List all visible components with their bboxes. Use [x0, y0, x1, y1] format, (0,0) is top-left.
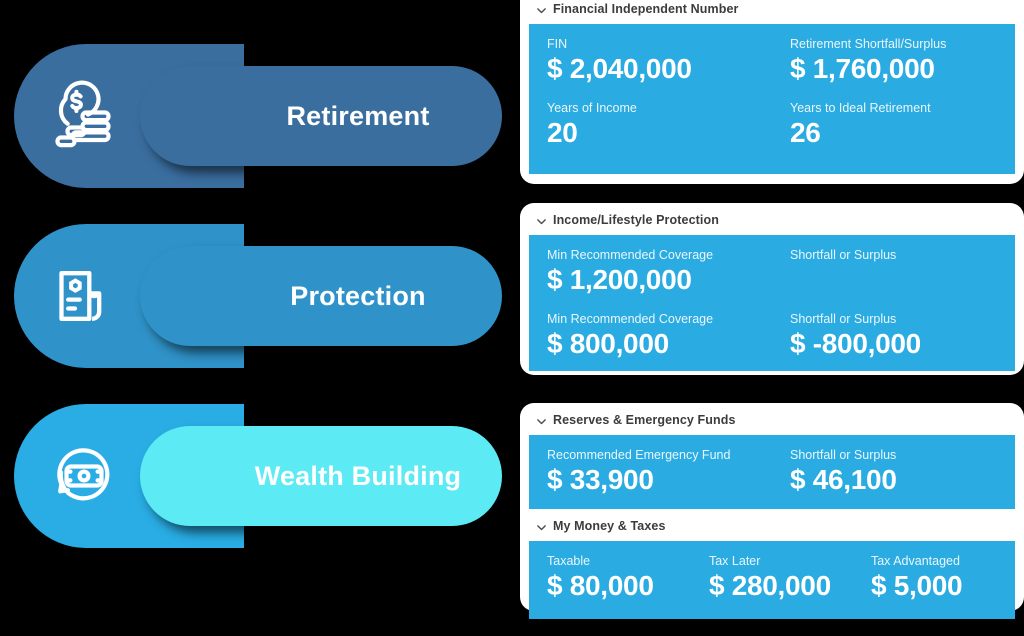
panel-header[interactable]: Income/Lifestyle Protection: [520, 203, 1024, 235]
panel-income-lifestyle-protection: Income/Lifestyle Protection Min Recommen…: [520, 203, 1024, 375]
stat-label: Min Recommended Coverage: [547, 247, 772, 263]
stat-value: $ 280,000: [709, 569, 853, 603]
summary-panel-column: Financial Independent Number FIN $ 2,040…: [512, 0, 1024, 636]
stat-label: Tax Later: [709, 553, 853, 569]
stat-value: $ 33,900: [547, 463, 772, 497]
chevron-down-icon[interactable]: [536, 5, 547, 16]
money-refresh-icon: [48, 440, 120, 512]
subpanel-header-my-money-taxes[interactable]: My Money & Taxes: [520, 509, 1024, 541]
stat-label: Shortfall or Surplus: [790, 447, 1015, 463]
stat-row: Min Recommended Coverage $ 1,200,000 Sho…: [529, 247, 1015, 297]
stat-cell-shortfall-or-surplus: Shortfall or Surplus: [772, 247, 1015, 297]
stat-card: FIN $ 2,040,000 Retirement Shortfall/Sur…: [529, 24, 1015, 174]
stat-row: Recommended Emergency Fund $ 33,900 Shor…: [529, 447, 1015, 497]
stat-cell-years-of-income: Years of Income 20: [529, 100, 772, 150]
stat-value: $ 46,100: [790, 463, 1015, 497]
stat-row: FIN $ 2,040,000 Retirement Shortfall/Sur…: [529, 36, 1015, 86]
stat-value: 20: [547, 116, 772, 150]
stat-value: $ 800,000: [547, 327, 772, 361]
panel-reserves-emergency-funds: Reserves & Emergency Funds Recommended E…: [520, 403, 1024, 611]
stat-label: Retirement Shortfall/Surplus: [790, 36, 1015, 52]
stat-cell-shortfall-or-surplus: Shortfall or Surplus $ -800,000: [772, 311, 1015, 361]
stat-value: $ 5,000: [871, 569, 1015, 603]
stat-cell-taxable: Taxable $ 80,000: [529, 553, 691, 603]
stat-label: Years of Income: [547, 100, 772, 116]
stat-value: $ -800,000: [790, 327, 1015, 361]
stat-label: Taxable: [547, 553, 691, 569]
panel-title: Income/Lifestyle Protection: [553, 213, 719, 227]
category-pill-wealth-building[interactable]: Wealth Building: [140, 426, 502, 526]
stat-value: $ 1,200,000: [547, 263, 772, 297]
category-pill-stack: Retirement Protection: [0, 0, 512, 636]
spacer: [529, 86, 1015, 100]
stat-cell-retirement-shortfall-surplus: Retirement Shortfall/Surplus $ 1,760,000: [772, 36, 1015, 86]
category-label: Protection: [216, 281, 426, 312]
stat-label: Tax Advantaged: [871, 553, 1015, 569]
stat-value: 26: [790, 116, 1015, 150]
stat-cell-fin: FIN $ 2,040,000: [529, 36, 772, 86]
category-label: Wealth Building: [181, 461, 462, 492]
coins-dollar-icon: [48, 80, 120, 152]
stat-label: Recommended Emergency Fund: [547, 447, 772, 463]
chevron-down-icon[interactable]: [536, 522, 547, 533]
category-pill-protection[interactable]: Protection: [140, 246, 502, 346]
panel-header[interactable]: Reserves & Emergency Funds: [520, 403, 1024, 435]
spacer: [529, 297, 1015, 311]
panel-financial-independent-number: Financial Independent Number FIN $ 2,040…: [520, 0, 1024, 184]
stat-card: Min Recommended Coverage $ 1,200,000 Sho…: [529, 235, 1015, 371]
stat-cell-tax-later: Tax Later $ 280,000: [691, 541, 853, 609]
chevron-down-icon[interactable]: [536, 416, 547, 427]
stat-label: FIN: [547, 36, 772, 52]
stat-row: Min Recommended Coverage $ 800,000 Short…: [529, 311, 1015, 361]
stat-card-reserves: Recommended Emergency Fund $ 33,900 Shor…: [529, 435, 1015, 509]
panel-header[interactable]: Financial Independent Number: [520, 0, 1024, 24]
chevron-down-icon[interactable]: [536, 216, 547, 227]
stat-cell-years-to-ideal-retirement: Years to Ideal Retirement 26: [772, 100, 1015, 150]
stat-value: $ 2,040,000: [547, 52, 772, 86]
stat-cell-tax-advantaged: Tax Advantaged $ 5,000: [853, 553, 1015, 603]
certificate-document-icon: [48, 260, 120, 332]
stat-row: Taxable $ 80,000 Tax Advantaged $ 5,000 …: [529, 553, 1015, 603]
stat-label: Min Recommended Coverage: [547, 311, 772, 327]
panel-title: Reserves & Emergency Funds: [553, 413, 736, 427]
stat-cell-min-recommended-coverage: Min Recommended Coverage $ 800,000: [529, 311, 772, 361]
stat-label: Shortfall or Surplus: [790, 311, 1015, 327]
category-label: Retirement: [212, 101, 429, 132]
stat-label: Shortfall or Surplus: [790, 247, 1015, 263]
stat-row: Years of Income 20 Years to Ideal Retire…: [529, 100, 1015, 150]
stat-cell-recommended-emergency-fund: Recommended Emergency Fund $ 33,900: [529, 447, 772, 497]
subpanel-title: My Money & Taxes: [553, 519, 666, 533]
stat-value: $ 80,000: [547, 569, 691, 603]
stat-cell-min-recommended-coverage: Min Recommended Coverage $ 1,200,000: [529, 247, 772, 297]
stat-cell-shortfall-or-surplus: Shortfall or Surplus $ 46,100: [772, 447, 1015, 497]
category-pill-retirement[interactable]: Retirement: [140, 66, 502, 166]
stat-label: Years to Ideal Retirement: [790, 100, 1015, 116]
panel-title: Financial Independent Number: [553, 2, 738, 16]
stat-value: $ 1,760,000: [790, 52, 1015, 86]
stat-card-taxes: Taxable $ 80,000 Tax Advantaged $ 5,000 …: [529, 541, 1015, 619]
